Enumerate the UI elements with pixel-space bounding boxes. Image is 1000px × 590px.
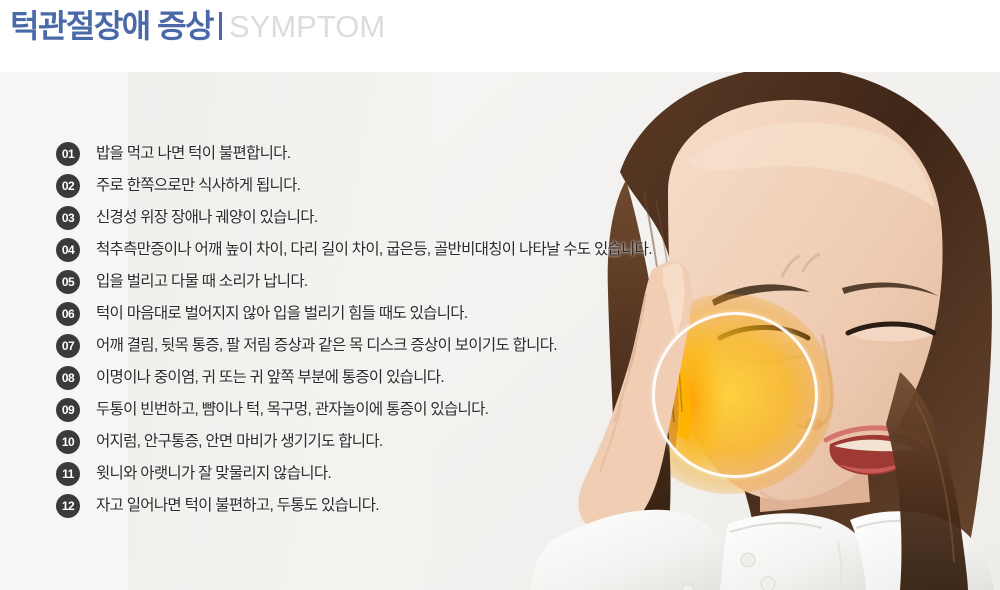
item-number-badge: 06 xyxy=(56,302,80,326)
page-title-korean: 턱관절장애 증상 xyxy=(10,4,213,48)
list-item: 12 자고 일어나면 턱이 불편하고, 두통도 있습니다. xyxy=(56,490,676,522)
item-text: 밥을 먹고 나면 턱이 불편합니다. xyxy=(96,143,290,165)
item-number-badge: 04 xyxy=(56,238,80,262)
item-number-badge: 05 xyxy=(56,270,80,294)
title-separator-bar xyxy=(219,12,222,40)
item-number-badge: 10 xyxy=(56,430,80,454)
item-number-badge: 01 xyxy=(56,142,80,166)
item-text: 자고 일어나면 턱이 불편하고, 두통도 있습니다. xyxy=(96,495,379,517)
list-item: 04 척추측만증이나 어깨 높이 차이, 다리 길이 차이, 굽은등, 골반비대… xyxy=(56,234,676,266)
list-item: 05 입을 벌리고 다물 때 소리가 납니다. xyxy=(56,266,676,298)
list-item: 06 턱이 마음대로 벌어지지 않아 입을 벌리기 힘들 때도 있습니다. xyxy=(56,298,676,330)
item-text: 어깨 결림, 뒷목 통증, 팔 저림 증상과 같은 목 디스크 증상이 보이기도… xyxy=(96,335,557,357)
item-number-badge: 09 xyxy=(56,398,80,422)
item-text: 어지럼, 안구통증, 안면 마비가 생기기도 합니다. xyxy=(96,431,383,453)
item-number-badge: 02 xyxy=(56,174,80,198)
item-text: 척추측만증이나 어깨 높이 차이, 다리 길이 차이, 굽은등, 골반비대칭이 … xyxy=(96,239,652,261)
list-item: 08 이명이나 중이염, 귀 또는 귀 앞쪽 부분에 통증이 있습니다. xyxy=(56,362,676,394)
item-text: 주로 한쪽으로만 식사하게 됩니다. xyxy=(96,175,300,197)
list-item: 01 밥을 먹고 나면 턱이 불편합니다. xyxy=(56,138,676,170)
item-number-badge: 11 xyxy=(56,462,80,486)
item-number-badge: 03 xyxy=(56,206,80,230)
item-text: 윗니와 아랫니가 잘 맞물리지 않습니다. xyxy=(96,463,331,485)
item-number-badge: 07 xyxy=(56,334,80,358)
page-header: 턱관절장애 증상 SYMPTOM xyxy=(0,0,1000,72)
item-text: 두통이 빈번하고, 뺨이나 턱, 목구멍, 관자놀이에 통증이 있습니다. xyxy=(96,399,488,421)
item-number-badge: 08 xyxy=(56,366,80,390)
page-title: 턱관절장애 증상 SYMPTOM xyxy=(10,4,385,49)
list-item: 09 두통이 빈번하고, 뺨이나 턱, 목구멍, 관자놀이에 통증이 있습니다. xyxy=(56,394,676,426)
item-text: 신경성 위장 장애나 궤양이 있습니다. xyxy=(96,207,317,229)
item-text: 턱이 마음대로 벌어지지 않아 입을 벌리기 힘들 때도 있습니다. xyxy=(96,303,467,325)
symptom-infographic-page: 턱관절장애 증상 SYMPTOM xyxy=(0,0,1000,590)
list-item: 02 주로 한쪽으로만 식사하게 됩니다. xyxy=(56,170,676,202)
item-number-badge: 12 xyxy=(56,494,80,518)
list-item: 10 어지럼, 안구통증, 안면 마비가 생기기도 합니다. xyxy=(56,426,676,458)
list-item: 03 신경성 위장 장애나 궤양이 있습니다. xyxy=(56,202,676,234)
list-item: 07 어깨 결림, 뒷목 통증, 팔 저림 증상과 같은 목 디스크 증상이 보… xyxy=(56,330,676,362)
list-item: 11 윗니와 아랫니가 잘 맞물리지 않습니다. xyxy=(56,458,676,490)
item-text: 이명이나 중이염, 귀 또는 귀 앞쪽 부분에 통증이 있습니다. xyxy=(96,367,444,389)
symptom-list: 01 밥을 먹고 나면 턱이 불편합니다. 02 주로 한쪽으로만 식사하게 됩… xyxy=(56,138,676,522)
item-text: 입을 벌리고 다물 때 소리가 납니다. xyxy=(96,271,307,293)
page-title-english: SYMPTOM xyxy=(229,5,385,49)
